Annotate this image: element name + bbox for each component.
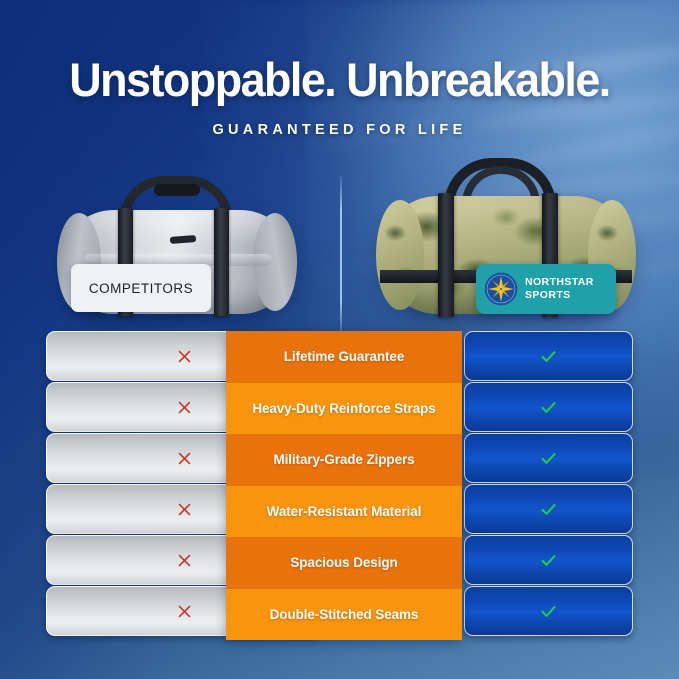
x-mark-icon (176, 501, 193, 518)
brand-cell (464, 586, 633, 636)
feature-column: Lifetime Guarantee Heavy-Duty Reinforce … (226, 331, 462, 640)
x-mark-icon (176, 603, 193, 620)
feature-label: Lifetime Guarantee (284, 349, 405, 364)
bag-handle-grip (154, 184, 200, 196)
feature-cell: Heavy-Duty Reinforce Straps (226, 383, 462, 435)
x-mark-icon (176, 552, 193, 569)
compass-star-icon (484, 272, 518, 306)
brand-name-line1: NORTHSTAR (525, 276, 594, 288)
check-mark-icon (539, 347, 558, 366)
brand-cell (464, 484, 633, 534)
feature-cell: Lifetime Guarantee (226, 331, 462, 383)
bag-strap (438, 193, 454, 317)
brand-cell (464, 382, 633, 432)
feature-label: Spacious Design (290, 555, 397, 570)
bag-strap (214, 208, 229, 316)
hero-text-block: Unstoppable. Unbreakable. GUARANTEED FOR… (0, 55, 679, 138)
check-mark-icon (539, 602, 558, 621)
brand-cell (464, 433, 633, 483)
brand-cell (464, 331, 633, 381)
feature-label: Heavy-Duty Reinforce Straps (252, 401, 435, 416)
feature-cell: Double-Stitched Seams (226, 589, 462, 641)
hero-headline: Unstoppable. Unbreakable. (15, 55, 663, 105)
hero-subheadline: GUARANTEED FOR LIFE (0, 122, 679, 138)
feature-cell: Water-Resistant Material (226, 486, 462, 538)
x-mark-icon (176, 348, 193, 365)
feature-cell: Military-Grade Zippers (226, 434, 462, 486)
feature-label: Military-Grade Zippers (273, 452, 414, 467)
brand-name-line2: SPORTS (525, 289, 571, 301)
check-mark-icon (539, 500, 558, 519)
competitors-label-pill: COMPETITORS (71, 264, 211, 312)
x-mark-icon (176, 399, 193, 416)
brand-badge: NORTHSTAR SPORTS (476, 264, 616, 314)
feature-label: Double-Stitched Seams (270, 607, 419, 622)
feature-cell: Spacious Design (226, 537, 462, 589)
feature-label: Water-Resistant Material (267, 504, 422, 519)
brand-cell (464, 535, 633, 585)
infographic-canvas: Unstoppable. Unbreakable. GUARANTEED FOR… (0, 0, 679, 679)
check-mark-icon (539, 398, 558, 417)
bag-end-left (376, 200, 424, 310)
vertical-divider (340, 176, 342, 331)
competitors-label-text: COMPETITORS (89, 281, 193, 296)
check-mark-icon (539, 551, 558, 570)
check-mark-icon (539, 449, 558, 468)
comparison-table: Lifetime Guarantee Heavy-Duty Reinforce … (0, 331, 679, 640)
brand-name: NORTHSTAR SPORTS (525, 276, 594, 302)
x-mark-icon (176, 450, 193, 467)
